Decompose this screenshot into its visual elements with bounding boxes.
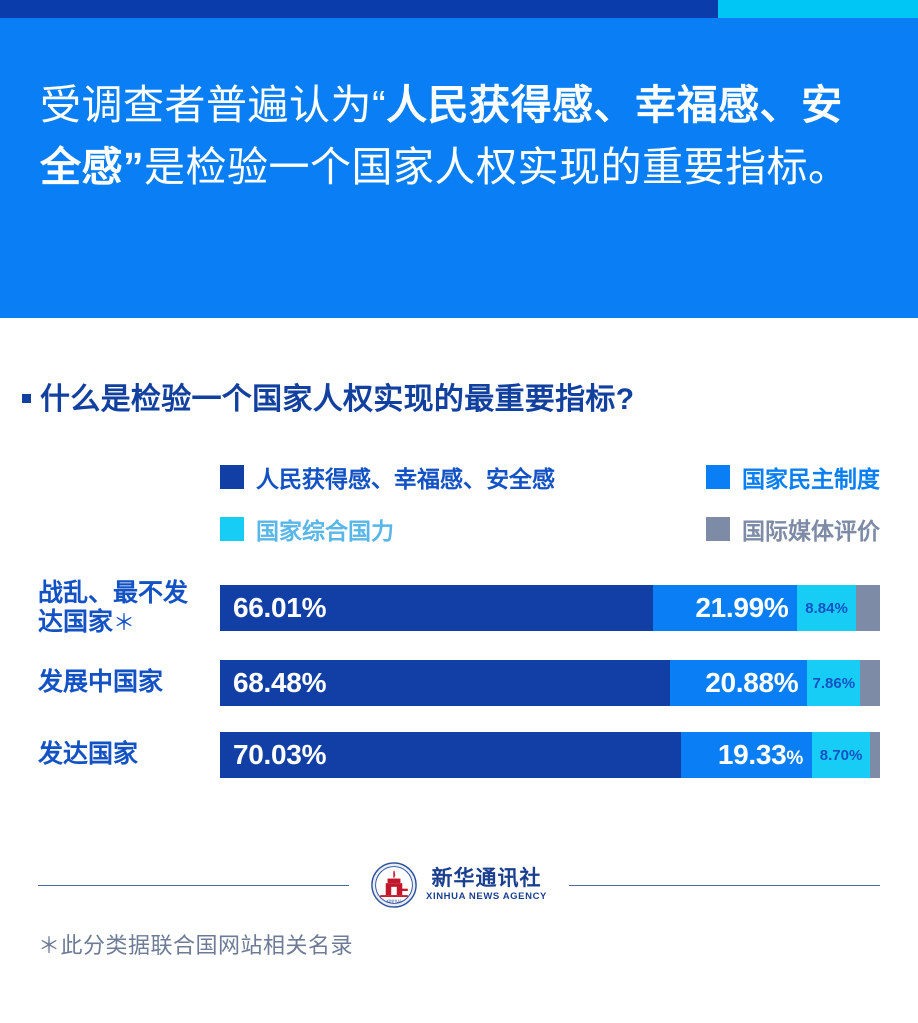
bar-segment-series1[interactable]: 66.01% bbox=[220, 585, 653, 631]
svg-text:XINHUA: XINHUA bbox=[386, 898, 402, 903]
footnote-star-icon: ＊ bbox=[113, 610, 135, 635]
bar-segment-series3[interactable]: 8.84% bbox=[797, 585, 855, 631]
bar-value-series2: 20.88% bbox=[705, 667, 798, 699]
hero-banner: 受调查者普遍认为“人民获得感、幸福感、安全感”是检验一个国家人权实现的重要指标。 bbox=[0, 18, 918, 318]
legend-label-2: 国家综合国力 bbox=[256, 512, 394, 546]
brand-wordmark: 新华通讯社 XINHUA NEWS AGENCY bbox=[426, 868, 547, 902]
stacked-bar-chart: 战乱、最不发 达国家＊ 66.01% 21.99% 8.84% 发展中国家 68… bbox=[0, 582, 918, 778]
bar-track: 66.01% 21.99% 8.84% bbox=[220, 585, 880, 631]
chart-legend: 人民获得感、幸福感、安全感 国家民主制度 国家综合国力 国际媒体评价 bbox=[220, 460, 880, 546]
brand-name-cn: 新华通讯社 bbox=[432, 868, 542, 889]
footnote-text: ＊此分类据联合国网站相关名录 bbox=[38, 928, 353, 960]
bullet-square-icon bbox=[22, 394, 31, 403]
bar-value-series2: 19.33% bbox=[718, 739, 803, 771]
bar-category-label: 战乱、最不发 达国家＊ bbox=[0, 579, 220, 638]
top-accent-bar-right bbox=[718, 0, 918, 18]
bar-value-series1: 66.01% bbox=[233, 592, 326, 624]
bar-segment-series4[interactable] bbox=[856, 585, 880, 631]
hero-line2-plain: 是检验一个国家人权实现的 bbox=[144, 144, 642, 190]
hero-line1-bold: 人民获得感、幸福 bbox=[386, 82, 718, 128]
bar-segment-series4[interactable] bbox=[870, 732, 880, 778]
top-accent-bar-left bbox=[0, 0, 718, 18]
bar-segment-series2[interactable]: 20.88% bbox=[670, 660, 807, 706]
legend-swatch-icon-2 bbox=[220, 517, 244, 541]
bar-value-series2-number: 19.33 bbox=[718, 739, 787, 770]
legend-swatch-icon-1 bbox=[706, 465, 730, 489]
hero-line1-plain: 受调查者普遍认为“ bbox=[40, 82, 386, 128]
bar-row: 发展中国家 68.48% 20.88% 7.86% bbox=[0, 660, 918, 706]
bar-segment-series2[interactable]: 19.33% bbox=[681, 732, 812, 778]
bar-category-line2: 达国家 bbox=[38, 608, 113, 636]
bar-value-series3: 8.84% bbox=[805, 600, 848, 617]
hero-line3-plain: 重要指标。 bbox=[642, 144, 850, 190]
legend-label-0: 人民获得感、幸福感、安全感 bbox=[256, 460, 555, 494]
bar-value-series2-percent: % bbox=[786, 748, 803, 769]
xinhua-emblem-icon: XINHUA bbox=[371, 862, 417, 908]
top-accent-bar bbox=[0, 0, 918, 18]
legend-label-1: 国家民主制度 bbox=[742, 460, 880, 494]
footer-brand-bar: XINHUA 新华通讯社 XINHUA NEWS AGENCY bbox=[0, 862, 918, 908]
bar-value-series3: 8.70% bbox=[820, 747, 863, 764]
legend-item-2[interactable]: 国家综合国力 bbox=[220, 512, 688, 546]
bar-category-label: 发展中国家 bbox=[0, 668, 220, 698]
bar-category-label: 发达国家 bbox=[0, 740, 220, 770]
legend-swatch-icon-3 bbox=[706, 517, 730, 541]
question-text: 什么是检验一个国家人权实现的最重要指标? bbox=[40, 374, 634, 418]
legend-item-3[interactable]: 国际媒体评价 bbox=[706, 512, 880, 546]
bar-track: 70.03% 19.33% 8.70% bbox=[220, 732, 880, 778]
legend-item-1[interactable]: 国家民主制度 bbox=[706, 460, 880, 494]
bar-segment-series1[interactable]: 68.48% bbox=[220, 660, 670, 706]
bar-value-series3: 7.86% bbox=[813, 675, 856, 692]
question-heading: 什么是检验一个国家人权实现的最重要指标? bbox=[0, 374, 918, 418]
legend-item-0[interactable]: 人民获得感、幸福感、安全感 bbox=[220, 460, 688, 494]
legend-label-3: 国际媒体评价 bbox=[742, 512, 880, 546]
bar-value-series1: 68.48% bbox=[233, 667, 326, 699]
bar-value-series1: 70.03% bbox=[233, 739, 326, 771]
bar-segment-series4[interactable] bbox=[860, 660, 880, 706]
bar-segment-series3[interactable]: 7.86% bbox=[807, 660, 860, 706]
bar-category-line1: 发展中国家 bbox=[38, 668, 210, 698]
hero-headline: 受调查者普遍认为“人民获得感、幸福感、安全感”是检验一个国家人权实现的重要指标。 bbox=[40, 74, 870, 199]
bar-segment-series2[interactable]: 21.99% bbox=[653, 585, 798, 631]
bar-segment-series3[interactable]: 8.70% bbox=[812, 732, 870, 778]
divider-left bbox=[38, 885, 349, 886]
brand-name-en: XINHUA NEWS AGENCY bbox=[426, 892, 547, 902]
bar-category-line1: 发达国家 bbox=[38, 740, 210, 770]
bar-value-series2: 21.99% bbox=[695, 592, 788, 624]
bar-row: 战乱、最不发 达国家＊ 66.01% 21.99% 8.84% bbox=[0, 582, 918, 634]
bar-segment-series1[interactable]: 70.03% bbox=[220, 732, 681, 778]
bar-row: 发达国家 70.03% 19.33% 8.70% bbox=[0, 732, 918, 778]
bar-category-line1: 战乱、最不发 bbox=[38, 579, 210, 609]
legend-swatch-icon-0 bbox=[220, 465, 244, 489]
divider-right bbox=[569, 885, 880, 886]
xinhua-brand: XINHUA 新华通讯社 XINHUA NEWS AGENCY bbox=[349, 862, 569, 908]
bar-track: 68.48% 20.88% 7.86% bbox=[220, 660, 880, 706]
